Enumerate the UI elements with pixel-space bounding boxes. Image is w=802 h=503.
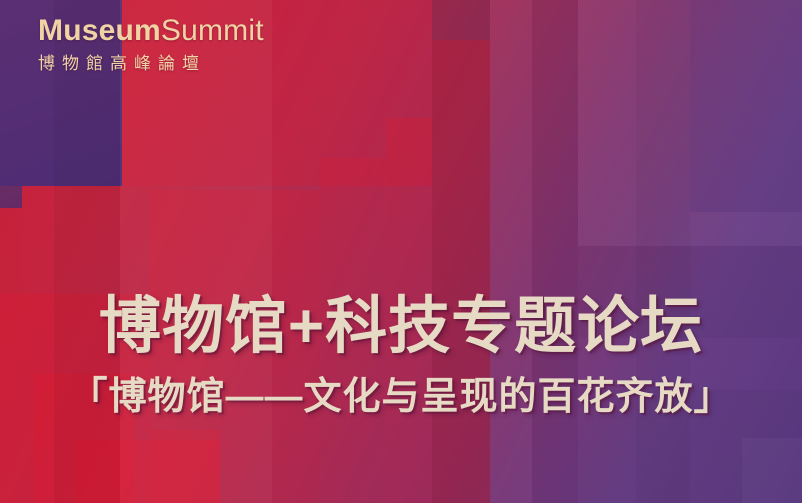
event-logo: MuseumSummit 博物館高峰論壇 xyxy=(38,16,264,72)
logo-word-summit: Summit xyxy=(161,14,264,47)
page-title: 博物馆+科技专题论坛 xyxy=(0,296,802,358)
background-vertical-bands xyxy=(0,0,802,503)
headline-group: 博物馆+科技专题论坛 「博物馆——文化与呈现的百花齐放」 xyxy=(0,296,802,416)
logo-english: MuseumSummit xyxy=(38,16,264,46)
background-blocks xyxy=(0,0,802,503)
conference-banner: MuseumSummit 博物館高峰論壇 博物馆+科技专题论坛 「博物馆——文化… xyxy=(0,0,802,503)
page-subtitle: 「博物馆——文化与呈现的百花齐放」 xyxy=(0,378,802,416)
logo-word-museum: Museum xyxy=(38,14,161,47)
logo-chinese: 博物館高峰論壇 xyxy=(38,55,264,72)
